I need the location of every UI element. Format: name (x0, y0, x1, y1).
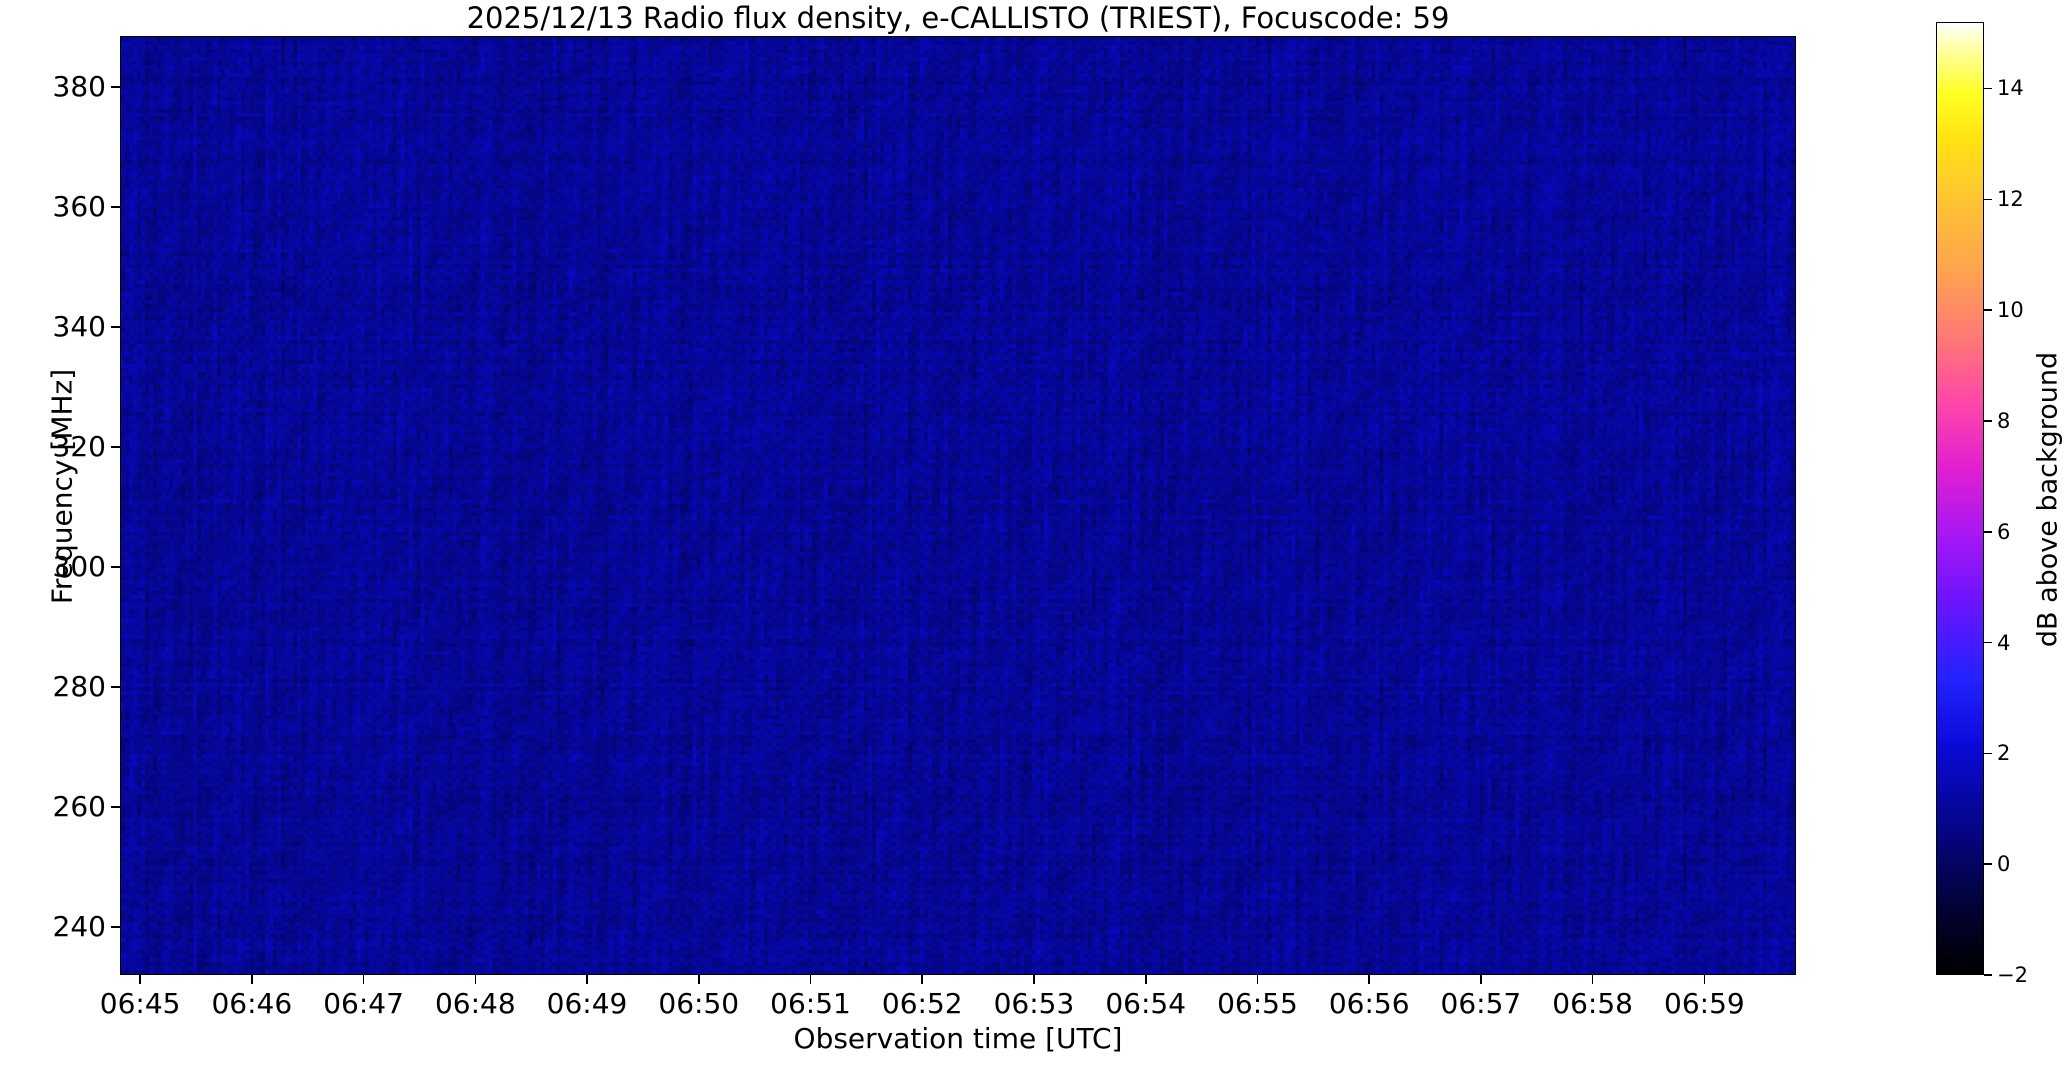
y-tick-mark (111, 806, 120, 808)
spectrogram-figure: 2025/12/13 Radio flux density, e-CALLIST… (0, 0, 2066, 1067)
y-tick-mark (111, 206, 120, 208)
y-tick-mark (111, 326, 120, 328)
colorbar-label: dB above background (2033, 30, 2064, 970)
spectrogram-plot-area (120, 36, 1796, 975)
x-tick-label: 06:59 (1634, 987, 1774, 1021)
colorbar-tick-mark (1984, 753, 1992, 755)
colorbar-tick-label: −2 (1997, 961, 2028, 989)
colorbar-tick-mark (1984, 309, 1992, 311)
y-tick-mark (111, 686, 120, 688)
y-tick-mark (111, 446, 120, 448)
x-tick-mark (921, 975, 923, 984)
x-tick-mark (1033, 975, 1035, 984)
colorbar-tick-label: 6 (1997, 518, 2010, 546)
colorbar-tick-label: 2 (1997, 739, 2010, 767)
x-tick-mark (475, 975, 477, 984)
x-tick-mark (1704, 975, 1706, 984)
colorbar-tick-mark (1984, 420, 1992, 422)
page-title: 2025/12/13 Radio flux density, e-CALLIST… (120, 2, 1796, 34)
x-tick-mark (698, 975, 700, 984)
colorbar-tick-mark (1984, 88, 1992, 90)
x-tick-mark (1145, 975, 1147, 984)
y-axis-label: Frequency [MHz] (46, 17, 79, 957)
colorbar-tick-mark (1984, 974, 1992, 976)
colorbar-tick-label: 8 (1997, 407, 2010, 435)
colorbar-gradient (1936, 22, 1984, 975)
x-tick-mark (251, 975, 253, 984)
colorbar-tick-label: 4 (1997, 629, 2010, 657)
x-tick-mark (1368, 975, 1370, 984)
colorbar-tick-mark (1984, 863, 1992, 865)
colorbar: −202468101214 (1936, 22, 1984, 975)
x-tick-mark (363, 975, 365, 984)
x-tick-mark (810, 975, 812, 984)
colorbar-tick-mark (1984, 642, 1992, 644)
x-tick-mark (586, 975, 588, 984)
colorbar-tick-mark (1984, 199, 1992, 201)
colorbar-tick-label: 12 (1997, 185, 2024, 213)
colorbar-tick-label: 0 (1997, 850, 2010, 878)
colorbar-tick-label: 14 (1997, 74, 2024, 102)
colorbar-tick-label: 10 (1997, 296, 2024, 324)
y-tick-mark (111, 566, 120, 568)
x-tick-mark (1480, 975, 1482, 984)
colorbar-tick-mark (1984, 531, 1992, 533)
x-tick-mark (139, 975, 141, 984)
x-tick-mark (1592, 975, 1594, 984)
x-tick-mark (1257, 975, 1259, 984)
y-tick-mark (111, 926, 120, 928)
spectrogram-image (121, 37, 1795, 974)
y-tick-mark (111, 86, 120, 88)
x-axis-label: Observation time [UTC] (120, 1022, 1796, 1056)
